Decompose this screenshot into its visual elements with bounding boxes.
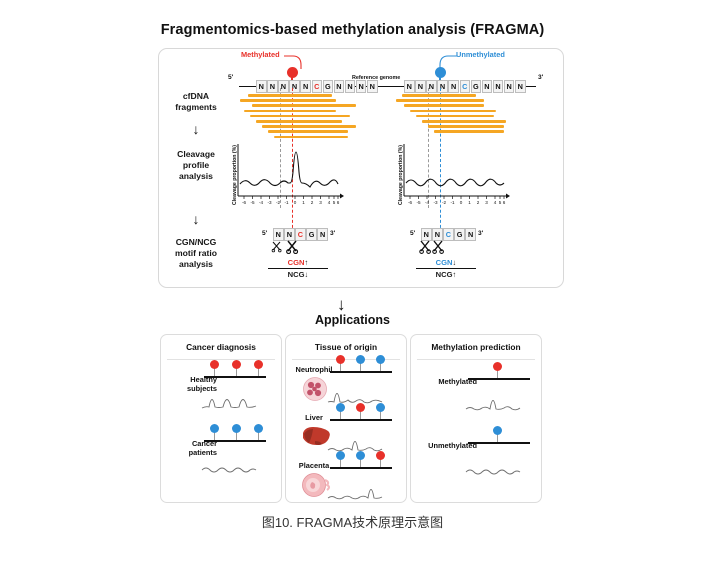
base-nucleotide: N xyxy=(404,80,415,93)
axis-tick-label: -3 xyxy=(267,200,272,205)
motif-denominator-label: NCG xyxy=(288,270,305,279)
axis-tick-label: 2 xyxy=(311,200,314,205)
cfdna-fragment-read xyxy=(250,115,350,118)
axis-tick-label: -1 xyxy=(284,200,289,205)
base-nucleotide: N xyxy=(300,80,311,93)
workflow-step-label: CGN/NCG motif ratio analysis xyxy=(175,237,217,269)
cfdna-fragment-read xyxy=(248,94,332,97)
axis-tick-label: 2 xyxy=(477,200,480,205)
axis-tick-label: 3 xyxy=(485,200,488,205)
scissors-icon-unmethylated-pair xyxy=(419,240,453,254)
axis-tick-label: 6 xyxy=(337,200,340,205)
dna-strand-bar xyxy=(330,467,392,469)
unmethylated-motif-ratio: CGN↓ NCG↑ xyxy=(416,258,476,279)
base-nucleotide: N xyxy=(267,80,278,93)
cfdna-fragment-read xyxy=(240,99,336,102)
motif-numerator: CGN↓ xyxy=(416,258,476,269)
axis-tick-label: 3 xyxy=(319,200,322,205)
base-nucleotide: G xyxy=(471,80,482,93)
base-nucleotide: N xyxy=(273,228,284,241)
motif-denominator-arrow: ↑ xyxy=(453,270,457,279)
motif-numerator-arrow: ↓ xyxy=(453,258,457,267)
cfdna-fragment-read xyxy=(274,136,348,139)
base-nucleotide: G xyxy=(306,228,317,241)
application-panel-title: Methylation prediction xyxy=(411,342,541,352)
axis-tick-label: 5 xyxy=(499,200,502,205)
cfdna-fragment-read xyxy=(416,115,494,118)
five-prime-label: 5' xyxy=(262,230,267,237)
axis-tick-label: -6 xyxy=(408,200,413,205)
base-nucleotide: G xyxy=(323,80,334,93)
base-nucleotide: N xyxy=(345,80,356,93)
methylated-tag: Methylated xyxy=(241,50,280,59)
unmethylated-tag: Unmethylated xyxy=(456,50,505,59)
three-prime-label: 3' xyxy=(330,230,335,237)
three-prime-label: 3' xyxy=(478,230,483,237)
application-panel-title: Tissue of origin xyxy=(286,342,406,352)
three-prime-label: 3' xyxy=(538,74,543,81)
axis-tick-label: -2 xyxy=(276,200,281,205)
dna-strand-bar xyxy=(204,440,266,442)
base-nucleotide: N xyxy=(421,228,432,241)
axis-tick-label: 5 xyxy=(333,200,336,205)
dna-strand-bar xyxy=(468,442,530,444)
application-panel-title: Cancer diagnosis xyxy=(161,342,281,352)
cfdna-fragment-read xyxy=(410,110,496,113)
figure-title: Fragmentomics-based methylation analysis… xyxy=(0,22,705,38)
base-nucleotide: N xyxy=(284,228,295,241)
axis-tick-label: -5 xyxy=(250,200,255,205)
axis-tick-label: -4 xyxy=(425,200,430,205)
base-nucleotide: N xyxy=(317,228,328,241)
base-cytosine-highlight: C xyxy=(443,228,454,241)
cfdna-fragment-read xyxy=(268,130,348,133)
dna-strand-bar xyxy=(330,371,392,373)
motif-denominator: NCG↓ xyxy=(268,269,328,279)
applications-title: Applications xyxy=(0,313,705,327)
panel-divider xyxy=(417,359,535,360)
base-nucleotide: N xyxy=(256,80,267,93)
cfdna-fragment-read xyxy=(422,120,506,123)
base-nucleotide: N xyxy=(334,80,345,93)
cfdna-fragment-read xyxy=(402,94,476,97)
five-prime-label: 5' xyxy=(228,74,233,81)
axis-tick-label: 1 xyxy=(468,200,471,205)
base-nucleotide: N xyxy=(465,228,476,241)
motif-denominator-arrow: ↓ xyxy=(305,270,309,279)
cfdna-fragment-read xyxy=(404,104,484,107)
cfdna-fragment-read xyxy=(428,125,504,128)
workflow-step-cleavage-profile-analysis: Cleavage profile analysis xyxy=(163,149,229,182)
cfdna-fragment-read xyxy=(262,125,356,128)
methylated-motif-ratio: CGN↑ NCG↓ xyxy=(268,258,328,279)
base-nucleotide: N xyxy=(515,80,526,93)
axis-tick-label: -5 xyxy=(416,200,421,205)
axis-tick-label: -4 xyxy=(259,200,264,205)
base-cytosine-highlight: C xyxy=(312,80,323,93)
cleavage-trace-peak-center xyxy=(464,384,526,416)
dna-strand-bar xyxy=(330,419,392,421)
unmethylated-dot-icon xyxy=(435,67,446,78)
axis-tick-label: 0 xyxy=(460,200,463,205)
cfdna-fragment-read xyxy=(256,120,342,123)
motif-numerator-arrow: ↑ xyxy=(305,258,309,267)
motif-denominator: NCG↑ xyxy=(416,269,476,279)
workflow-step-motif-ratio-analysis: CGN/NCG motif ratio analysis xyxy=(163,237,229,270)
motif-denominator-label: NCG xyxy=(436,270,453,279)
dna-strand-bar xyxy=(204,376,266,378)
axis-tick-label: -1 xyxy=(450,200,455,205)
cfdna-fragment-read xyxy=(244,110,336,113)
axis-tick-label: 1 xyxy=(302,200,305,205)
methylated-cleavage-profile-chart: -6-5-4-3-2-10123456 xyxy=(234,142,346,208)
motif-numerator: CGN↑ xyxy=(268,258,328,269)
cfdna-fragment-read xyxy=(252,104,356,107)
methylated-dot-icon xyxy=(287,67,298,78)
workflow-step-label: cfDNA fragments xyxy=(175,91,217,112)
dna-strand-bar xyxy=(468,378,530,380)
scissors-icon-methylated-small xyxy=(271,240,305,254)
base-nucleotide: N xyxy=(432,228,443,241)
axis-tick-label: -6 xyxy=(242,200,247,205)
workflow-arrow-1: ↓ xyxy=(189,122,203,136)
axis-tick-label: -3 xyxy=(433,200,438,205)
base-nucleotide: N xyxy=(493,80,504,93)
figure-caption: 图10. FRAGMA技术原理示意图 xyxy=(0,512,705,531)
base-nucleotide: N xyxy=(356,80,367,93)
motif-numerator-label: CGN xyxy=(436,258,453,267)
axis-tick-label: 4 xyxy=(328,200,331,205)
base-nucleotide: N xyxy=(437,80,448,93)
axis-tick-label: 0 xyxy=(294,200,297,205)
cleavage-trace-flat-wavy xyxy=(200,446,262,478)
cfdna-fragment-read xyxy=(434,130,504,133)
base-cytosine-highlight: C xyxy=(460,80,471,93)
base-nucleotide: N xyxy=(367,80,378,93)
reference-genome-sequence: 5' Reference genome 3' NNNNNCGNNNN NNNNN… xyxy=(228,80,548,93)
base-nucleotide: N xyxy=(415,80,426,93)
axis-tick-label: -2 xyxy=(442,200,447,205)
cleavage-trace-flat-wavy xyxy=(464,448,526,480)
applications-arrow: ↓ xyxy=(337,296,346,313)
base-nucleotide: N xyxy=(482,80,493,93)
workflow-step-label: Cleavage profile analysis xyxy=(177,149,215,181)
cfdna-fragment-read xyxy=(396,99,484,102)
axis-tick-label: 6 xyxy=(503,200,506,205)
base-nucleotide: N xyxy=(289,80,300,93)
motif-numerator-label: CGN xyxy=(288,258,305,267)
axis-tick-label: 4 xyxy=(494,200,497,205)
cleavage-trace-three-peaks xyxy=(200,382,262,414)
base-cytosine-highlight: C xyxy=(295,228,306,241)
workflow-step-cfdna-fragments: cfDNA fragments xyxy=(163,91,229,113)
workflow-arrow-2: ↓ xyxy=(189,212,203,226)
cleavage-trace-peak-right xyxy=(326,473,388,505)
base-nucleotide: N xyxy=(504,80,515,93)
base-nucleotide: N xyxy=(448,80,459,93)
base-nucleotide: G xyxy=(454,228,465,241)
five-prime-label: 5' xyxy=(410,230,415,237)
dna-backbone-left xyxy=(239,86,257,88)
unmethylated-cleavage-profile-chart: -6-5-4-3-2-10123456 xyxy=(400,142,512,208)
